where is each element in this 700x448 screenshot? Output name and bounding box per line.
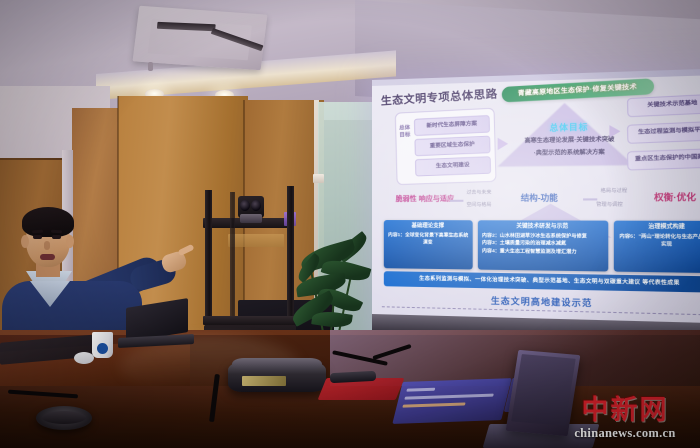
slide-blue-box: 关键技术研发与示范 内容2：山水林田湖草沙冰生态系统保护与修复 内容3：土壤质量… [478, 220, 608, 271]
slide-right-item: 关键技术示范基地 [627, 94, 700, 118]
computer-mouse[interactable] [74, 352, 94, 364]
speakerphone-ring [42, 411, 86, 424]
slide-right-item: 重点区生态保护的中国案例 [627, 148, 700, 170]
rack-panel [228, 234, 284, 247]
table-slide-reflection [392, 378, 511, 424]
air-conditioner-icon [133, 6, 268, 70]
watermark-url: chinanews.com.cn [560, 426, 690, 441]
slide-right-column: 关键技术示范基地 生态过程监测与模拟平台 重点区生态保护的中国案例 [627, 94, 700, 176]
presenter-mouth [40, 254, 55, 260]
slide-band-sub: 格局与过程 [601, 188, 628, 196]
watermark-chinese: 中新网 [560, 396, 690, 425]
camera-mount [240, 214, 262, 223]
camera-lens-icon [240, 200, 250, 211]
blue-box-line: 内容3：土壤质量污染的治理减水减氮 [482, 241, 566, 247]
projection-screen: 生态文明专项总体思路 青藏高原地区生态保护·修复关键技术 总体目标 新时代生态屏… [372, 68, 700, 351]
slide-left-item: 新时代生态屏障方案 [414, 115, 490, 136]
band-arrow-icon [450, 200, 463, 202]
blue-box-line: 内容1：全球变化背景下高寒生态系统演变 [388, 233, 468, 246]
slide-blue-box-row: 基础理论支撑 内容1：全球变化背景下高寒生态系统演变 关键技术研发与示范 内容2… [384, 220, 700, 273]
slide-left-item: 重要区域生态保护 [414, 136, 490, 157]
presenter-ear [66, 235, 74, 248]
presenter-ear [21, 235, 29, 248]
blue-box-heading: 关键技术研发与示范 [482, 223, 604, 231]
blue-box-line: 内容5："两山"理论转化与生态产品价值实现 [619, 235, 700, 248]
slide-blue-box: 治理模式构建 内容5："两山"理论转化与生态产品价值实现 [614, 221, 700, 274]
slide-band-sub: 空间与格局 [467, 202, 492, 209]
slide-left-item: 生态文明建设 [415, 156, 491, 176]
cup-logo-icon [97, 343, 108, 354]
slide-title: 生态文明专项总体思路 [381, 85, 498, 109]
blue-box-heading: 治理模式构建 [618, 224, 700, 232]
slide-left-vertical-label: 总体目标 [399, 125, 410, 140]
slide-core-line-2: ·典型示范的系统解决方案 [510, 148, 629, 159]
sprinkler-icon [148, 62, 153, 71]
presenter-hair [22, 207, 74, 237]
presenter-nose [44, 241, 50, 250]
blue-box-line: 内容4：重大生态工程智慧监测及增汇潜力 [482, 249, 577, 255]
blue-box-line: 内容2：山水林田湖草沙冰生态系统保护与修复 [482, 234, 587, 240]
reflection-text-line [406, 388, 435, 392]
slide-left-group: 总体目标 新时代生态屏障方案 重要区域生态保护 生态文明建设 [395, 108, 497, 185]
photo-scene: 生态文明专项总体思路 青藏高原地区生态保护·修复关键技术 总体目标 新时代生态屏… [0, 0, 700, 448]
reflection-text-line [404, 394, 494, 400]
slide-band-label-center: 结构-功能 [521, 192, 558, 204]
rack-shelf [203, 316, 295, 325]
band-arrow-icon [583, 198, 597, 200]
slide-band-label-left: 脆弱性 响应与适应 [396, 194, 454, 204]
camera-lens-icon [251, 200, 261, 211]
slide-right-item: 生态过程监测与模拟平台 [627, 121, 700, 144]
paper-cup [92, 332, 113, 358]
slide-band-label-right: 权衡·优化 [654, 191, 696, 204]
conference-speakerphone[interactable] [36, 406, 92, 430]
wall-switch[interactable] [313, 174, 324, 183]
slide-blue-strip: 生态系列监测与模拟、一体化治理技术突破、典型示范基地、生态文明与双碳重大建议 等… [384, 271, 700, 293]
presenter-eye [52, 235, 61, 239]
video-conference-codec[interactable] [228, 362, 326, 392]
blue-box-heading: 基础理论支撑 [388, 223, 469, 231]
arrow-right-icon [609, 125, 620, 138]
watermark: 中新网 chinanews.com.cn [560, 396, 690, 442]
codec-port-panel [242, 376, 286, 386]
presenter-eye [33, 235, 42, 239]
slide-band-sub: 过去与未来 [467, 189, 492, 196]
reflection-text-line [402, 403, 465, 408]
codec-top-shell [232, 358, 322, 370]
slide-blue-box: 基础理论支撑 内容1：全球变化背景下高寒生态系统演变 [384, 220, 473, 269]
